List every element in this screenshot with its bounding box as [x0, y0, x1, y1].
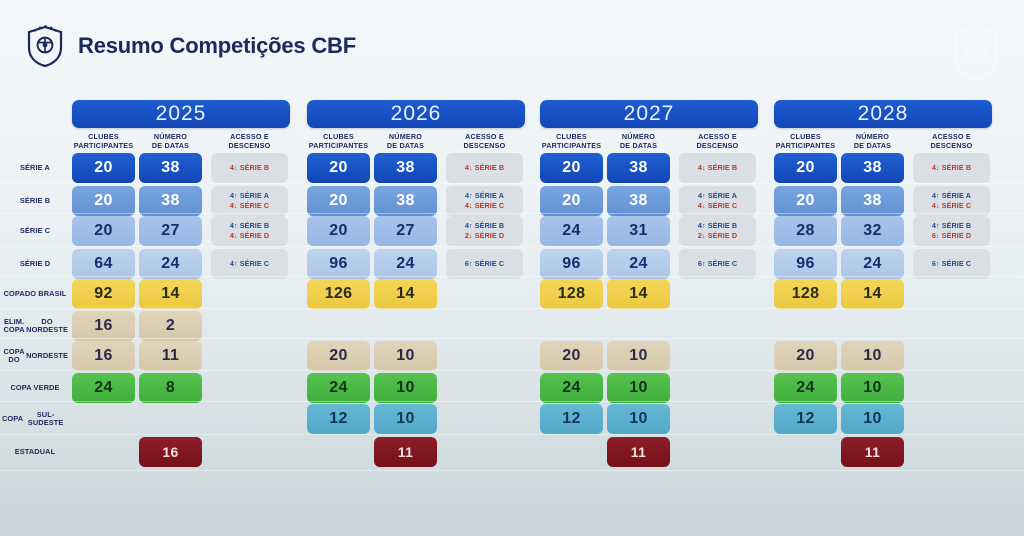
data-cell-7-3-datas: 10	[841, 373, 904, 403]
data-cell-7-0-clubes: 24	[72, 373, 135, 403]
data-cell-3-1-datas: 24	[374, 249, 437, 279]
row-label-0: SÉRIE A	[2, 153, 68, 183]
row-divider	[0, 470, 1024, 471]
data-cell-2-2-clubes: 24	[540, 216, 603, 246]
data-cell-8-2-datas: 10	[607, 404, 670, 434]
acesso-descenso-1-0: 4↑ SÉRIE A4↓ SÉRIE C	[211, 186, 288, 216]
acesso-descenso-1-1: 4↑ SÉRIE A4↓ SÉRIE C	[446, 186, 523, 216]
data-cell-7-1-clubes: 24	[307, 373, 370, 403]
acesso-descenso-0-0: 4↓ SÉRIE B	[211, 153, 288, 183]
data-cell-1-0-datas: 38	[139, 186, 202, 216]
data-cell-6-1-datas: 10	[374, 341, 437, 371]
data-cell-8-3-clubes: 12	[774, 404, 837, 434]
data-cell-6-2-datas: 10	[607, 341, 670, 371]
acesso-descenso-2-2: 4↑ SÉRIE B2↓ SÉRIE D	[679, 216, 756, 246]
data-cell-3-0-clubes: 64	[72, 249, 135, 279]
row-divider	[0, 370, 1024, 371]
data-cell-6-3-datas: 10	[841, 341, 904, 371]
data-cell-7-2-datas: 10	[607, 373, 670, 403]
data-cell-9-2-datas: 11	[607, 437, 670, 467]
data-cell-7-3-clubes: 24	[774, 373, 837, 403]
data-cell-0-1-clubes: 20	[307, 153, 370, 183]
data-cell-1-1-clubes: 20	[307, 186, 370, 216]
data-cell-8-3-datas: 10	[841, 404, 904, 434]
data-cell-2-0-clubes: 20	[72, 216, 135, 246]
row-label-4: COPADO BRASIL	[2, 279, 68, 309]
data-cell-6-2-clubes: 20	[540, 341, 603, 371]
data-cell-3-3-clubes: 96	[774, 249, 837, 279]
acesso-descenso-2-1: 4↑ SÉRIE B2↓ SÉRIE D	[446, 216, 523, 246]
data-cell-0-3-clubes: 20	[774, 153, 837, 183]
data-cell-6-0-clubes: 16	[72, 341, 135, 371]
acesso-descenso-0-1: 4↓ SÉRIE B	[446, 153, 523, 183]
data-cell-0-2-datas: 38	[607, 153, 670, 183]
data-cell-6-3-clubes: 20	[774, 341, 837, 371]
row-label-8: COPASUL-SUDESTE	[2, 404, 68, 434]
data-cell-2-1-clubes: 20	[307, 216, 370, 246]
data-cell-3-0-datas: 24	[139, 249, 202, 279]
row-label-9: ESTADUAL	[2, 437, 68, 467]
data-cell-6-1-clubes: 20	[307, 341, 370, 371]
row-divider	[0, 434, 1024, 435]
row-divider	[0, 150, 1024, 151]
data-cell-3-2-datas: 24	[607, 249, 670, 279]
competitions-table: 2025CLUBESPARTICIPANTESNÚMERODE DATASACE…	[0, 0, 1024, 500]
data-cell-4-0-clubes: 92	[72, 279, 135, 309]
data-cell-1-3-datas: 38	[841, 186, 904, 216]
data-cell-0-0-datas: 38	[139, 153, 202, 183]
data-cell-3-2-clubes: 96	[540, 249, 603, 279]
row-divider	[0, 213, 1024, 214]
data-cell-1-3-clubes: 20	[774, 186, 837, 216]
row-label-6: COPA DONORDESTE	[2, 341, 68, 371]
data-cell-0-1-datas: 38	[374, 153, 437, 183]
data-cell-9-1-datas: 11	[374, 437, 437, 467]
data-cell-9-0-datas: 16	[139, 437, 202, 467]
row-divider	[0, 276, 1024, 277]
data-cell-4-1-clubes: 126	[307, 279, 370, 309]
acesso-descenso-2-0: 4↑ SÉRIE B4↓ SÉRIE D	[211, 216, 288, 246]
acesso-descenso-0-3: 4↓ SÉRIE B	[913, 153, 990, 183]
acesso-descenso-1-2: 4↑ SÉRIE A4↓ SÉRIE C	[679, 186, 756, 216]
data-cell-6-0-datas: 11	[139, 341, 202, 371]
data-cell-3-1-clubes: 96	[307, 249, 370, 279]
row-label-7: COPA VERDE	[2, 373, 68, 403]
acesso-descenso-3-1: 6↑ SÉRIE C	[446, 249, 523, 279]
acesso-descenso-1-3: 4↑ SÉRIE A4↓ SÉRIE C	[913, 186, 990, 216]
data-cell-5-0-clubes: 16	[72, 311, 135, 341]
row-divider	[0, 246, 1024, 247]
data-cell-1-0-clubes: 20	[72, 186, 135, 216]
acesso-descenso-2-3: 4↑ SÉRIE B6↓ SÉRIE D	[913, 216, 990, 246]
data-cell-7-2-clubes: 24	[540, 373, 603, 403]
data-cell-4-2-clubes: 128	[540, 279, 603, 309]
row-divider	[0, 308, 1024, 309]
data-cell-1-1-datas: 38	[374, 186, 437, 216]
row-divider	[0, 338, 1024, 339]
data-cell-1-2-datas: 38	[607, 186, 670, 216]
year-header-2027[interactable]: 2027	[540, 100, 758, 128]
data-cell-3-3-datas: 24	[841, 249, 904, 279]
acesso-descenso-3-0: 4↑ SÉRIE C	[211, 249, 288, 279]
data-cell-4-3-datas: 14	[841, 279, 904, 309]
row-divider	[0, 183, 1024, 184]
data-cell-4-3-clubes: 128	[774, 279, 837, 309]
acesso-descenso-3-3: 6↑ SÉRIE C	[913, 249, 990, 279]
data-cell-1-2-clubes: 20	[540, 186, 603, 216]
data-cell-2-2-datas: 31	[607, 216, 670, 246]
data-cell-2-3-datas: 32	[841, 216, 904, 246]
data-cell-4-1-datas: 14	[374, 279, 437, 309]
data-cell-8-1-datas: 10	[374, 404, 437, 434]
year-header-2028[interactable]: 2028	[774, 100, 992, 128]
row-label-2: SÉRIE C	[2, 216, 68, 246]
data-cell-0-2-clubes: 20	[540, 153, 603, 183]
data-cell-9-3-datas: 11	[841, 437, 904, 467]
year-header-2025[interactable]: 2025	[72, 100, 290, 128]
data-cell-2-0-datas: 27	[139, 216, 202, 246]
data-cell-2-1-datas: 27	[374, 216, 437, 246]
data-cell-0-0-clubes: 20	[72, 153, 135, 183]
data-cell-4-0-datas: 14	[139, 279, 202, 309]
acesso-descenso-0-2: 4↓ SÉRIE B	[679, 153, 756, 183]
row-label-5: ELIM. COPADO NORDESTE	[2, 311, 68, 341]
data-cell-7-0-datas: 8	[139, 373, 202, 403]
year-header-2026[interactable]: 2026	[307, 100, 525, 128]
data-cell-7-1-datas: 10	[374, 373, 437, 403]
data-cell-5-0-datas: 2	[139, 311, 202, 341]
row-label-3: SÉRIE D	[2, 249, 68, 279]
data-cell-8-2-clubes: 12	[540, 404, 603, 434]
acesso-descenso-3-2: 6↑ SÉRIE C	[679, 249, 756, 279]
data-cell-2-3-clubes: 28	[774, 216, 837, 246]
data-cell-8-1-clubes: 12	[307, 404, 370, 434]
row-divider	[0, 401, 1024, 402]
data-cell-4-2-datas: 14	[607, 279, 670, 309]
row-label-1: SÉRIE B	[2, 186, 68, 216]
data-cell-0-3-datas: 38	[841, 153, 904, 183]
